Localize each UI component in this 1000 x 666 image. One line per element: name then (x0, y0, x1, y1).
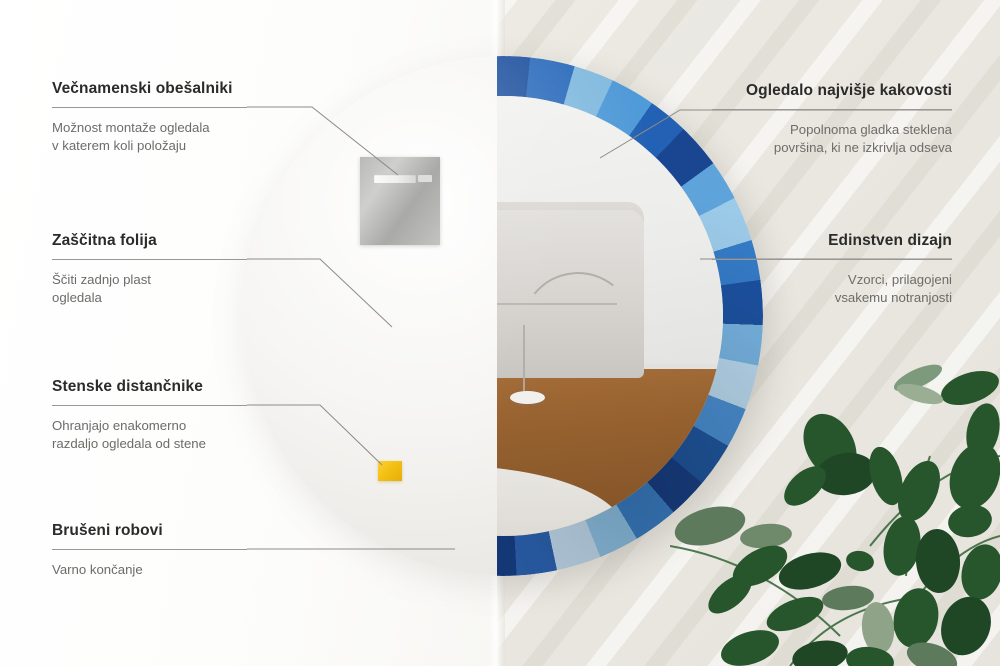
feature-title: Edinstven dizajn (712, 232, 952, 250)
feature-unique-design: Edinstven dizajn Vzorci, prilagojeni vsa… (712, 232, 952, 307)
infographic-canvas: Večnamenski obešalniki Možnost montaže o… (0, 0, 1000, 666)
feature-desc: Ohranjajo enakomerno razdaljo ogledala o… (52, 417, 247, 453)
feature-title: Brušeni robovi (52, 522, 247, 540)
feature-rule (52, 259, 247, 260)
yellow-wall-spacer (378, 461, 402, 481)
feature-polished-edges: Brušeni robovi Varno končanje (52, 522, 247, 579)
feature-rule (712, 259, 952, 260)
feature-desc: Možnost montaže ogledala v katerem koli … (52, 119, 247, 155)
feature-desc: Vzorci, prilagojeni vsakemu notranjosti (712, 271, 952, 307)
feature-desc: Varno končanje (52, 561, 247, 579)
feature-title: Večnamenski obešalniki (52, 80, 247, 98)
feature-wall-spacers: Stenske distančnike Ohranjajo enakomerno… (52, 378, 247, 453)
feature-rule (52, 405, 247, 406)
feature-title: Zaščitna folija (52, 232, 247, 250)
feature-multipurpose-hangers: Večnamenski obešalniki Možnost montaže o… (52, 80, 247, 155)
feature-desc: Ščiti zadnjo plast ogledala (52, 271, 247, 307)
reflected-lamp-stem (523, 325, 525, 395)
feature-title: Ogledalo najvišje kakovosti (712, 82, 952, 100)
feature-desc: Popolnoma gladka steklena površina, ki n… (712, 121, 952, 157)
feature-protective-film: Zaščitna folija Ščiti zadnjo plast ogled… (52, 232, 247, 307)
feature-top-quality-mirror: Ogledalo najvišje kakovosti Popolnoma gl… (712, 82, 952, 157)
hanger-mounting-plate (360, 157, 440, 245)
mirror-backing-panel (243, 56, 497, 576)
feature-rule (52, 107, 247, 108)
feature-rule (712, 109, 952, 110)
feature-rule (52, 549, 247, 550)
decorative-plant (670, 336, 1000, 666)
hanger-slot-secondary (418, 175, 432, 182)
hanger-slot (374, 174, 416, 183)
reflected-lamp-shade (510, 391, 545, 404)
feature-title: Stenske distančnike (52, 378, 247, 396)
